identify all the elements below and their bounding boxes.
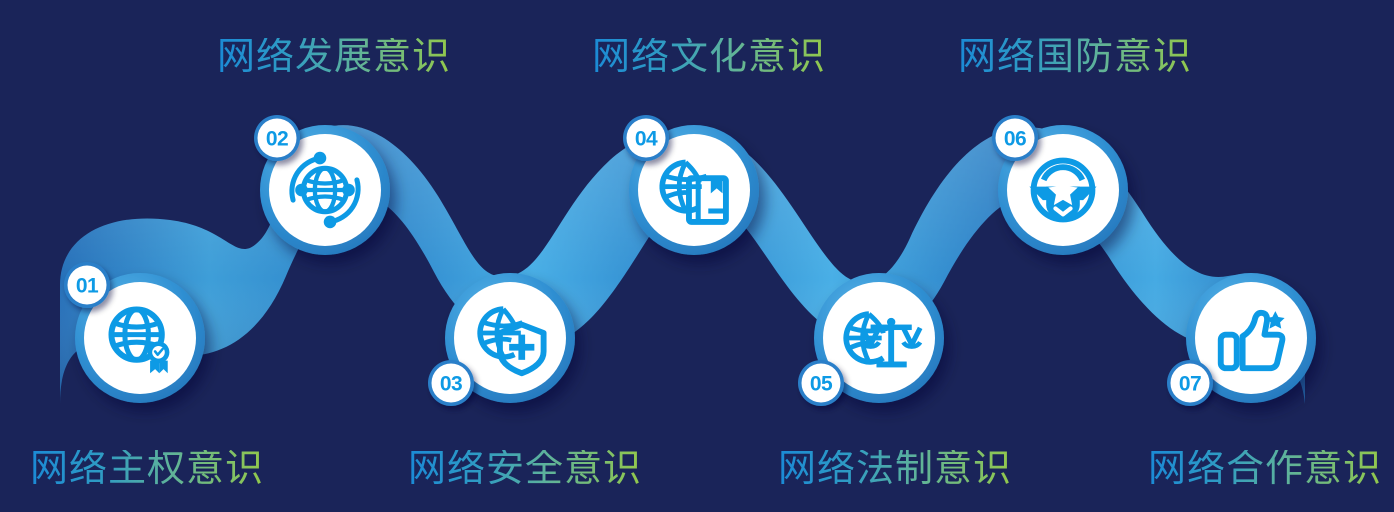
step-badge-01[interactable]: 01 [64, 262, 110, 308]
step-badge-05[interactable]: 05 [798, 360, 844, 406]
badge-number: 05 [810, 373, 833, 396]
step-label-01: 网络主权意识 [30, 450, 264, 488]
step-badge-02[interactable]: 02 [254, 115, 300, 161]
step-badge-03[interactable]: 03 [428, 360, 474, 406]
step-label-05: 网络法制意识 [778, 450, 1012, 488]
badge-number: 04 [635, 128, 658, 151]
badge-number: 03 [440, 373, 462, 396]
badge-number: 07 [1179, 373, 1201, 396]
step-badge-04[interactable]: 04 [623, 115, 669, 161]
step-badge-07[interactable]: 07 [1167, 360, 1213, 406]
step-label-02: 网络发展意识 [217, 38, 451, 76]
badge-number: 02 [266, 128, 288, 151]
step-label-06: 网络国防意识 [958, 38, 1192, 76]
step-badge-06[interactable]: 06 [992, 115, 1038, 161]
step-label-07: 网络合作意识 [1148, 450, 1382, 488]
infographic-canvas: 01 02 03 [0, 0, 1394, 512]
step-label-03: 网络安全意识 [408, 450, 642, 488]
badge-number: 01 [76, 275, 99, 298]
badge-number: 06 [1004, 128, 1026, 151]
step-label-04: 网络文化意识 [592, 38, 826, 76]
